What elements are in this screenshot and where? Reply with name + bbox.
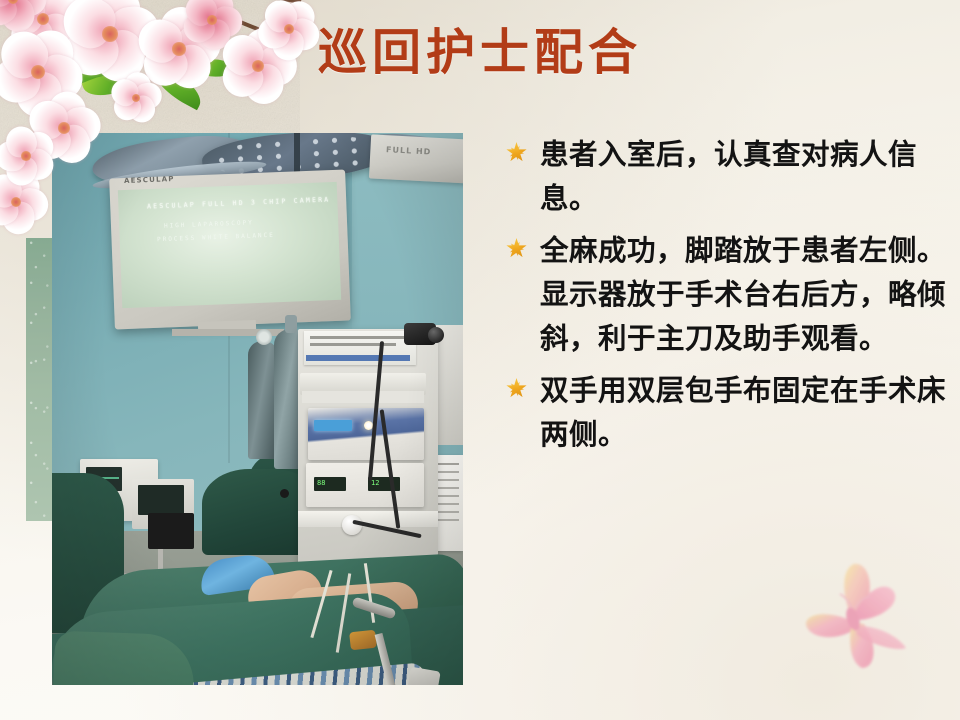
list-item[interactable]: 患者入室后，认真查对病人信息。 (506, 132, 946, 220)
presentation-slide: 巡回护士配合 FULL HD AESCULAP AESCULAP FULL HD… (0, 0, 960, 720)
blossom (260, 0, 318, 58)
blossom (112, 74, 160, 122)
bullet-list: 患者入室后，认真查对病人信息。 全麻成功，脚踏放于患者左侧。显示器放于手术台右后… (506, 132, 946, 464)
list-item[interactable]: 全麻成功，脚踏放于患者左侧。显示器放于手术台右后方，略倾斜，利于主刀及助手观看。 (506, 228, 946, 360)
bullet-text: 双手用双层包手布固定在手术床两侧。 (540, 368, 946, 456)
list-item[interactable]: 双手用双层包手布固定在手术床两侧。 (506, 368, 946, 456)
butterfly-decoration (792, 556, 932, 686)
blossom (0, 0, 44, 30)
blossom (0, 128, 54, 184)
gold-star-bullet-icon (506, 378, 527, 399)
bullet-text: 患者入室后，认真查对病人信息。 (540, 132, 946, 220)
bullet-text: 全麻成功，脚踏放于患者左侧。显示器放于手术台右后方，略倾斜，利于主刀及助手观看。 (540, 228, 946, 360)
gold-star-bullet-icon (506, 142, 527, 163)
gold-star-bullet-icon (506, 238, 527, 259)
cherry-blossom-decoration (0, 0, 318, 282)
